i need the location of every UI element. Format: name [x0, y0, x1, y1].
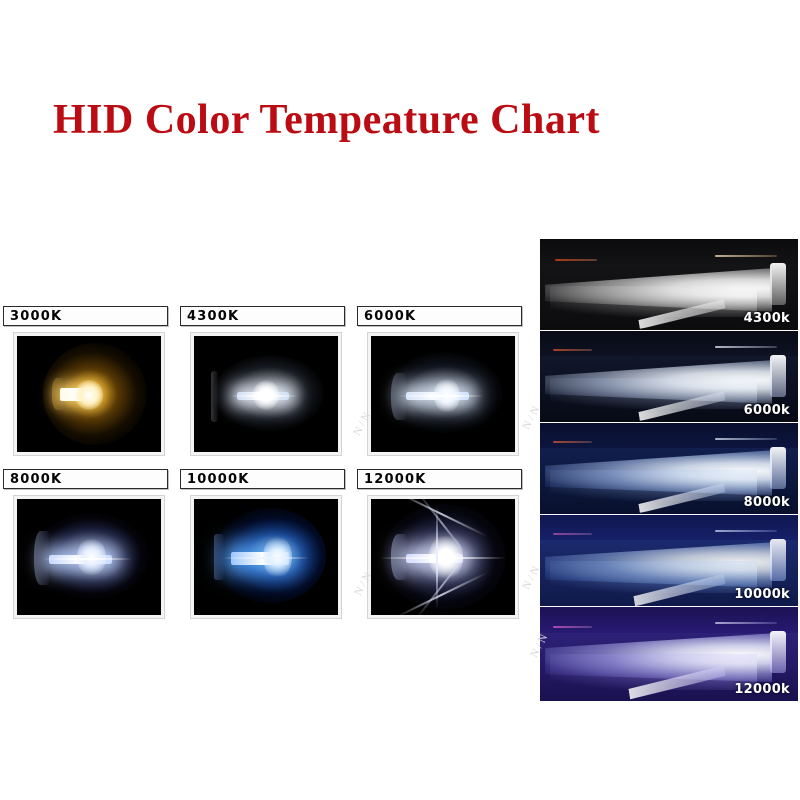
beam-cell-8000k[interactable]: 8000k: [540, 423, 798, 514]
beam-cell-10000k[interactable]: 10000k: [540, 515, 798, 606]
bulb-label-box-10000k: 10000K: [180, 469, 345, 489]
bulb-cell-10000k[interactable]: 10000K: [180, 469, 349, 624]
bulb-cell-4300k[interactable]: 4300K: [180, 306, 349, 461]
bulb-label-box-6000k: 6000K: [357, 306, 522, 326]
beam-cell-6000k[interactable]: 6000k: [540, 331, 798, 422]
beam-label-10000k: 10000k: [734, 587, 790, 602]
bulb-label-text: 8000K: [4, 473, 62, 486]
bulb-label-box-4300k: 4300K: [180, 306, 345, 326]
bulb-label-box-3000k: 3000K: [3, 306, 168, 326]
bulb-cell-6000k[interactable]: 6000K: [357, 306, 526, 461]
beam-label-4300k: 4300k: [744, 311, 790, 326]
bulb-cell-12000k[interactable]: 12000K: [357, 469, 526, 624]
bulb-photo-8000k: [17, 499, 161, 615]
bulb-label-box-12000k: 12000K: [357, 469, 522, 489]
bulb-label-text: 3000K: [4, 310, 62, 323]
bulb-label-text: 10000K: [181, 473, 250, 486]
bulb-grid: 3000K 4300K: [0, 306, 540, 631]
bulb-frame-3000k: [13, 332, 165, 456]
bulb-photo-3000k: [17, 336, 161, 452]
chart-canvas: HID Color Tempeature Chart 3000K 4300K: [0, 0, 800, 800]
bulb-cell-8000k[interactable]: 8000K: [3, 469, 172, 624]
beam-cell-4300k[interactable]: 4300k: [540, 239, 798, 330]
bulb-frame-10000k: [190, 495, 342, 619]
page-title: HID Color Tempeature Chart: [53, 96, 600, 144]
bulb-frame-6000k: [367, 332, 519, 456]
bulb-photo-6000k: [371, 336, 515, 452]
beam-label-8000k: 8000k: [744, 495, 790, 510]
bulb-frame-4300k: [190, 332, 342, 456]
bulb-photo-10000k: [194, 499, 338, 615]
beam-label-6000k: 6000k: [744, 403, 790, 418]
bulb-photo-4300k: [194, 336, 338, 452]
beam-cell-12000k[interactable]: 12000k: [540, 607, 798, 701]
bulb-label-text: 12000K: [358, 473, 427, 486]
bulb-label-text: 4300K: [181, 310, 239, 323]
bulb-label-text: 6000K: [358, 310, 416, 323]
bulb-photo-12000k: [371, 499, 515, 615]
bulb-frame-8000k: [13, 495, 165, 619]
beam-label-12000k: 12000k: [734, 682, 790, 697]
bulb-cell-3000k[interactable]: 3000K: [3, 306, 172, 461]
beam-comparison-column: 4300k 6000k 8000k: [540, 239, 798, 701]
bulb-label-box-8000k: 8000K: [3, 469, 168, 489]
bulb-frame-12000k: [367, 495, 519, 619]
